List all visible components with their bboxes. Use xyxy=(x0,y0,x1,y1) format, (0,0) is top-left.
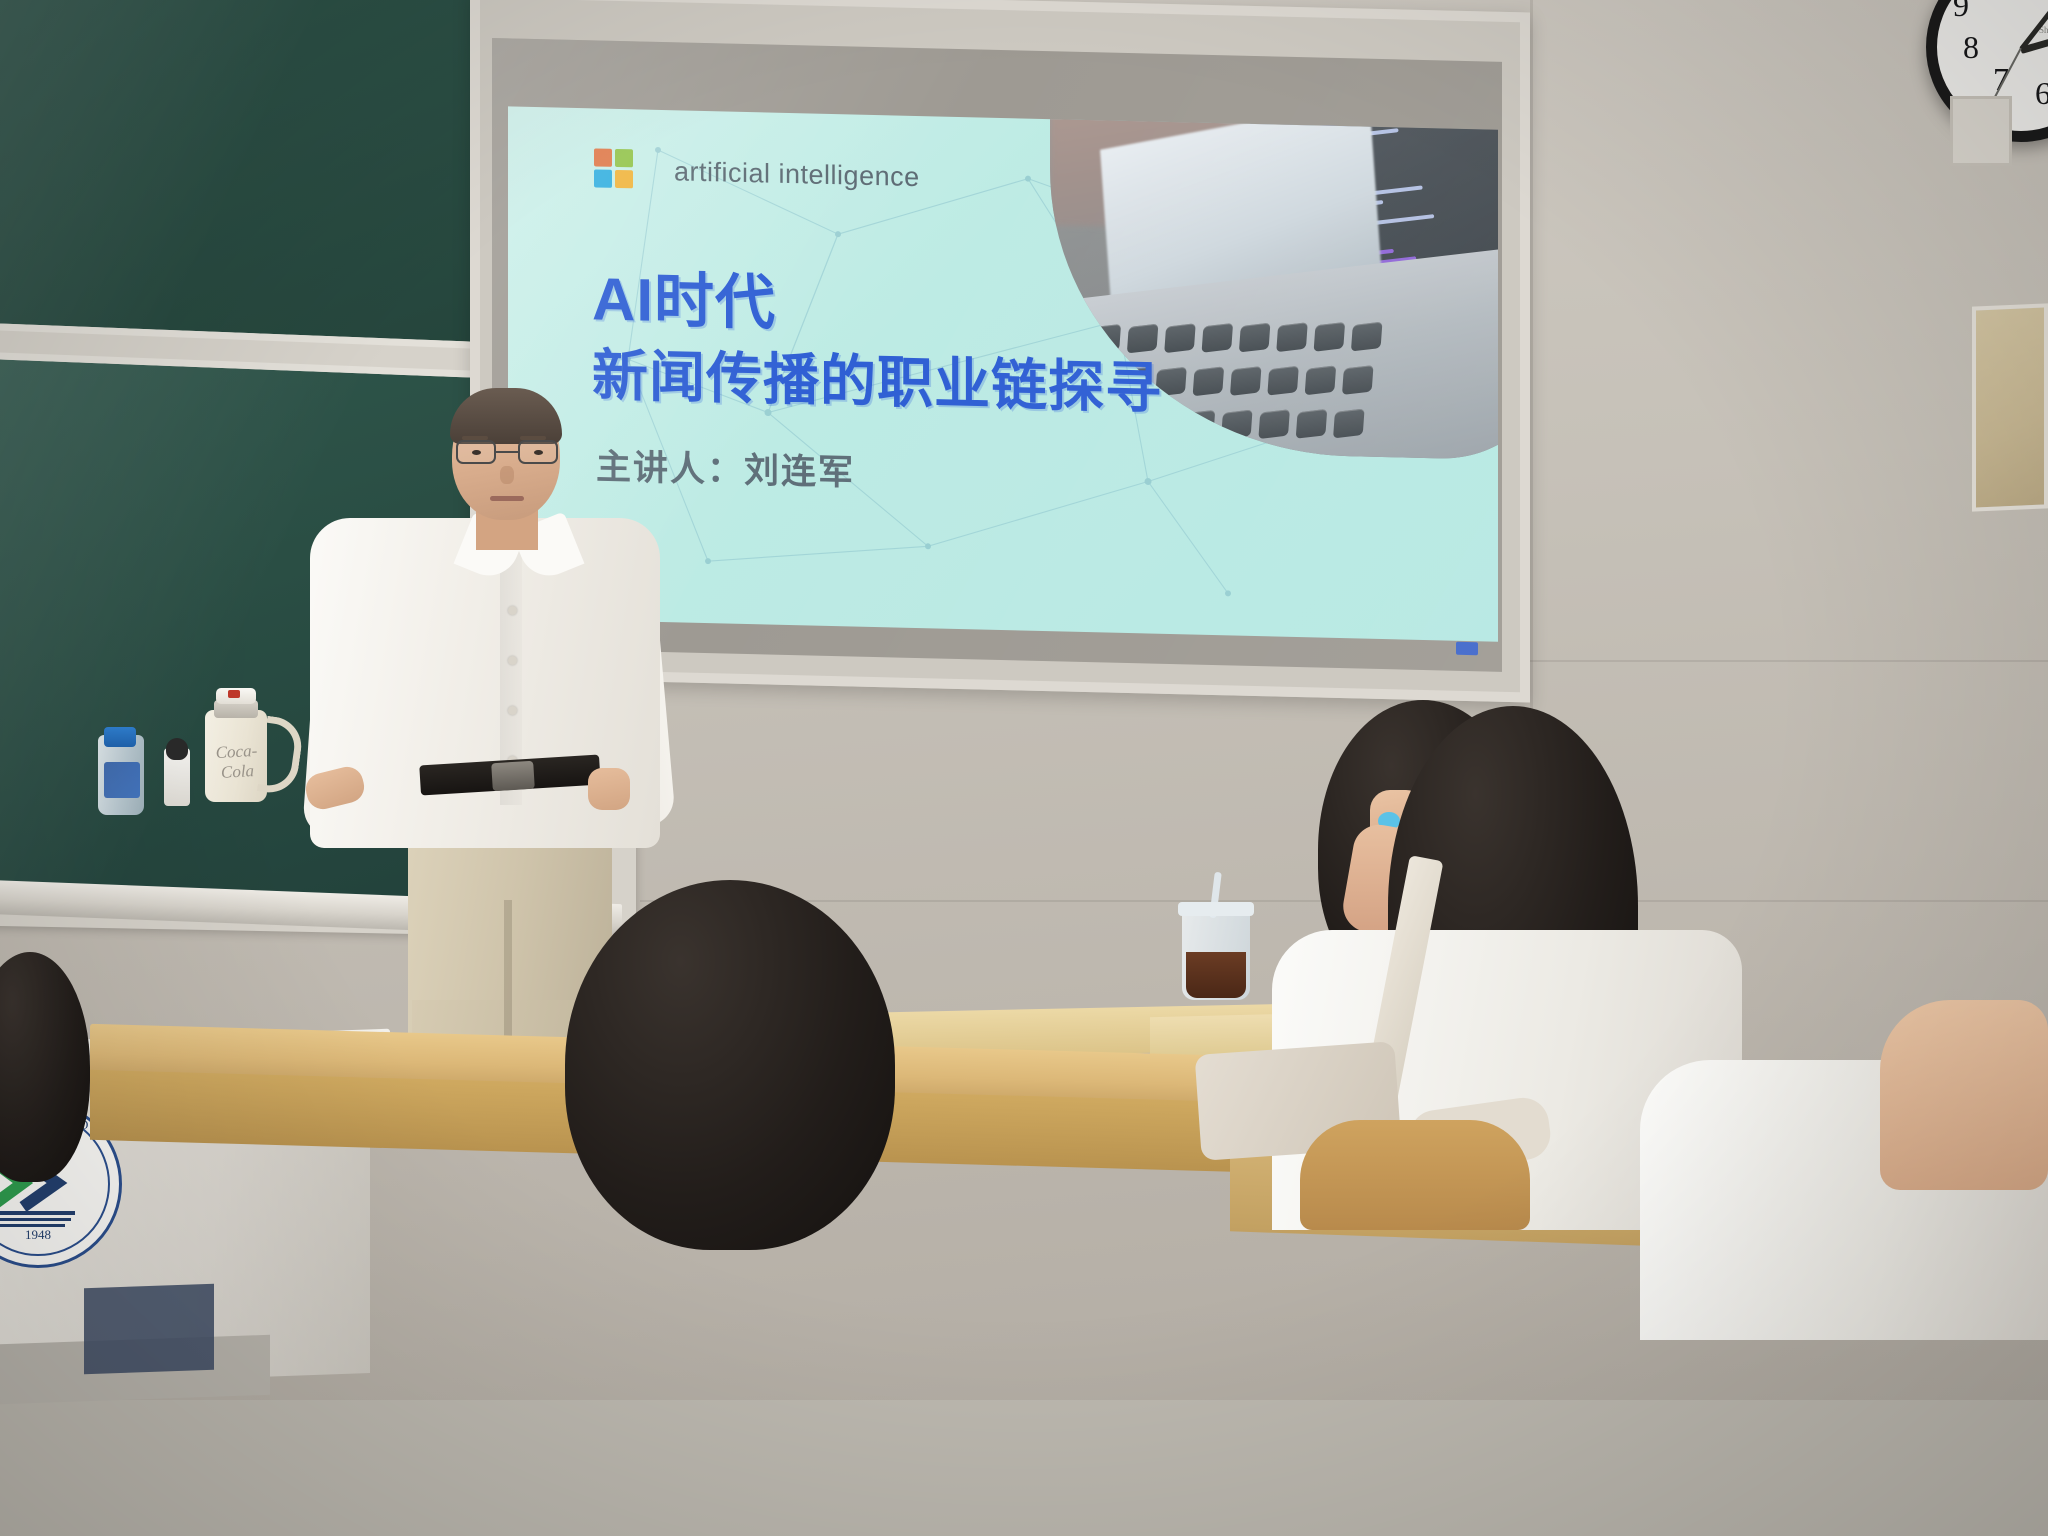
slide-title-line1: AI时代 xyxy=(592,250,776,341)
university-year: 1948 xyxy=(0,1227,119,1243)
student-back-of-head xyxy=(565,880,895,1250)
bottle-cap xyxy=(104,727,136,747)
microsoft-squares-logo xyxy=(594,148,634,189)
slide-eyebrow: artificial intelligence xyxy=(674,156,920,193)
classroom-scene: artificial intelligence AI时代 新闻传播的职业链探寻 … xyxy=(0,0,2048,1536)
clock-number-6: 6 xyxy=(2035,75,2048,112)
clock-number-9: 9 xyxy=(1953,0,1969,24)
wooden-chair xyxy=(1300,1120,1530,1230)
podium-control-panel[interactable] xyxy=(84,1284,214,1375)
belt-buckle xyxy=(491,761,535,792)
thermos-release-button[interactable] xyxy=(228,690,240,698)
slide-title-line2: 新闻传播的职业链探寻 xyxy=(592,330,1162,424)
student-raised-arm xyxy=(1880,1000,2048,1190)
projector-indicator xyxy=(1456,642,1478,656)
wall-notice-board xyxy=(1972,303,2048,511)
clock-number-8: 8 xyxy=(1963,29,1979,66)
slide-presenter: 主讲人：刘连军 xyxy=(596,438,855,495)
bottle-label xyxy=(104,762,140,798)
microphone-head xyxy=(166,738,188,760)
presenter-right-hand xyxy=(588,768,630,810)
wall-mounted-box xyxy=(1950,96,2012,166)
